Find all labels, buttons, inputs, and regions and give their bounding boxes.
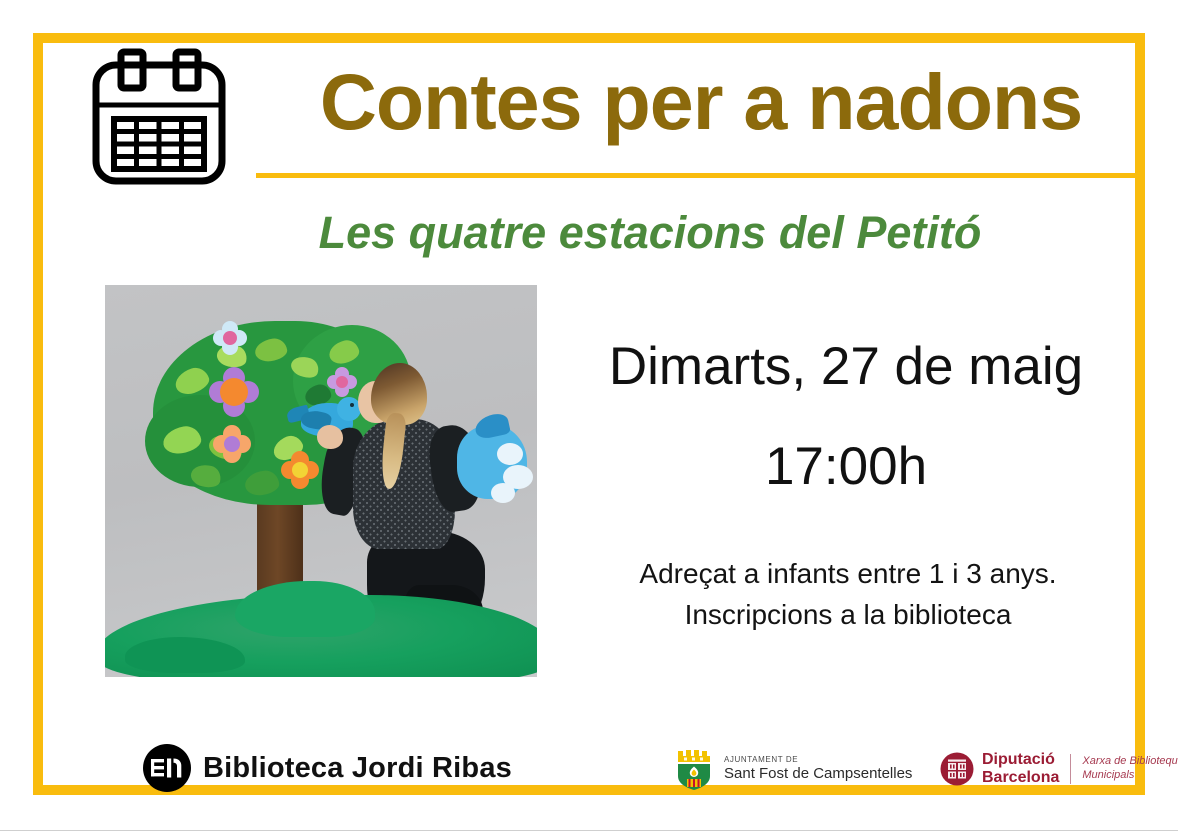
biblioteques-municipals-logo-icon xyxy=(142,743,192,793)
logo-divider xyxy=(1070,754,1071,784)
bird-eye xyxy=(350,403,354,407)
felt-flower xyxy=(209,367,259,417)
green-fabric-fold xyxy=(235,581,375,637)
event-time: 17:00h xyxy=(548,438,1144,496)
diputacio-name-line-1: Diputació xyxy=(982,751,1059,769)
title-divider xyxy=(256,173,1142,178)
diputacio-barcelona-seal-icon xyxy=(940,752,974,786)
performer-hand xyxy=(317,425,343,449)
cloud-fluff xyxy=(491,483,515,503)
ajuntament-line-2: Sant Fost de Campsentelles xyxy=(724,765,912,783)
event-note-line-2: Inscripcions a la biblioteca xyxy=(552,595,1144,636)
felt-flower xyxy=(213,321,247,355)
event-note: Adreçat a infants entre 1 i 3 anys. Insc… xyxy=(552,554,1144,635)
calendar-icon xyxy=(88,47,230,189)
event-photo xyxy=(105,285,537,677)
felt-flower xyxy=(281,451,319,489)
sant-fost-crest-icon xyxy=(672,748,716,790)
diputacio-subtitle-line-2: Municipals xyxy=(1082,769,1178,783)
poster-canvas: Contes per a nadons Les quatre estacions… xyxy=(0,0,1178,828)
photo-illustration xyxy=(105,285,537,677)
diputacio-subtitle: Xarxa de Biblioteques Municipals xyxy=(1082,755,1178,783)
felt-flower xyxy=(327,367,357,397)
diputacio-name: Diputació Barcelona xyxy=(982,751,1059,787)
ajuntament-line-1: AJUNTAMENT DE xyxy=(724,755,912,764)
event-note-line-1: Adreçat a infants entre 1 i 3 anys. xyxy=(552,554,1144,595)
page-title: Contes per a nadons xyxy=(258,62,1144,141)
felt-flower xyxy=(213,425,251,463)
page-bottom-rule xyxy=(0,830,1178,831)
event-date: Dimarts, 27 de maig xyxy=(548,338,1144,396)
diputacio-name-line-2: Barcelona xyxy=(982,769,1059,787)
cloud-fluff xyxy=(497,443,523,465)
diputacio-subtitle-line-1: Xarxa de Biblioteques xyxy=(1082,755,1178,769)
diputacio-barcelona-logo: Diputació Barcelona Xarxa de Biblioteque… xyxy=(940,748,1178,790)
ajuntament-logo: AJUNTAMENT DE Sant Fost de Campsentelles xyxy=(672,746,912,792)
ajuntament-text: AJUNTAMENT DE Sant Fost de Campsentelles xyxy=(724,755,912,782)
page-subtitle: Les quatre estacions del Petitó xyxy=(150,208,1150,258)
library-name: Biblioteca Jordi Ribas xyxy=(203,752,512,785)
